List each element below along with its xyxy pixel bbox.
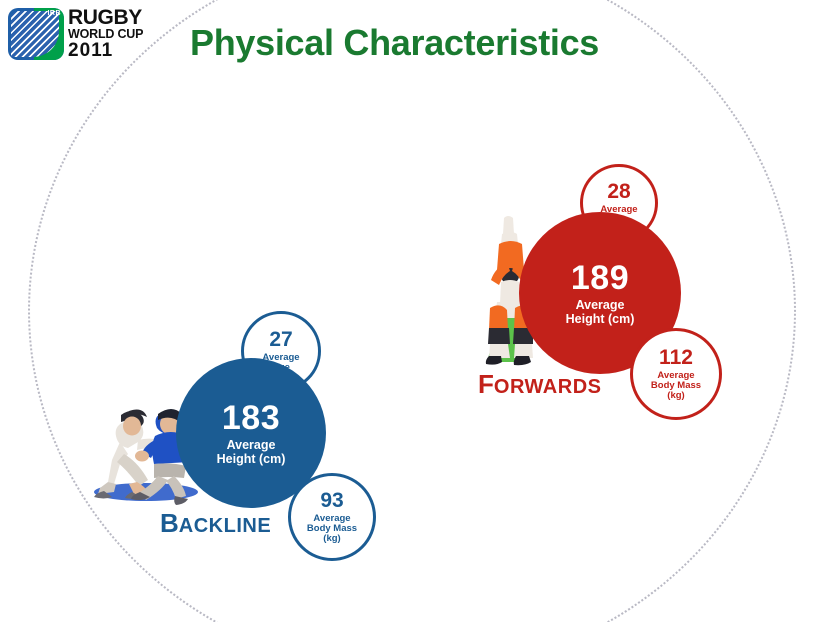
forwards-label-rest: ORWARDS (494, 376, 602, 398)
backline-label-lead: B (160, 508, 179, 538)
logo-line-year: 2011 (68, 41, 160, 60)
forwards-height-caption-2: Height (cm) (566, 313, 635, 326)
backline-mass-caption-3: (kg) (323, 534, 340, 544)
slide-canvas: IRB RUGBY WORLD CUP 2011 Physical Charac… (0, 0, 829, 622)
logo-line-rugby: RUGBY (68, 8, 160, 27)
forwards-group-label: FORWARDS (478, 369, 601, 400)
backline-height-value: 183 (222, 400, 280, 436)
forwards-height-caption-1: Average (576, 299, 625, 312)
irb-label: IRB (47, 9, 61, 18)
rugby-world-cup-logo: IRB RUGBY WORLD CUP 2011 (8, 6, 158, 66)
backline-label-rest: ACKLINE (179, 515, 271, 537)
backline-age-value: 27 (269, 329, 292, 351)
backline-group-label: BACKLINE (160, 508, 271, 539)
backline-average-body-mass-bubble[interactable]: 93 Average Body Mass (kg) (288, 473, 376, 561)
page-title: Physical Characteristics (190, 22, 599, 64)
dotted-oval-decoration (28, 0, 796, 622)
forwards-height-value: 189 (571, 260, 629, 296)
logo-wordmark: RUGBY WORLD CUP 2011 (68, 8, 160, 60)
backline-height-caption-1: Average (227, 439, 276, 452)
logo-line-worldcup: WORLD CUP (68, 27, 160, 41)
forwards-mass-value: 112 (659, 347, 693, 369)
logo-ball-icon: IRB (8, 8, 64, 60)
backline-height-caption-2: Height (cm) (217, 453, 286, 466)
forwards-age-value: 28 (607, 181, 630, 203)
backline-mass-value: 93 (320, 490, 343, 512)
forwards-average-body-mass-bubble[interactable]: 112 Average Body Mass (kg) (630, 328, 722, 420)
forwards-mass-caption-3: (kg) (667, 391, 684, 401)
forwards-label-lead: F (478, 369, 494, 399)
